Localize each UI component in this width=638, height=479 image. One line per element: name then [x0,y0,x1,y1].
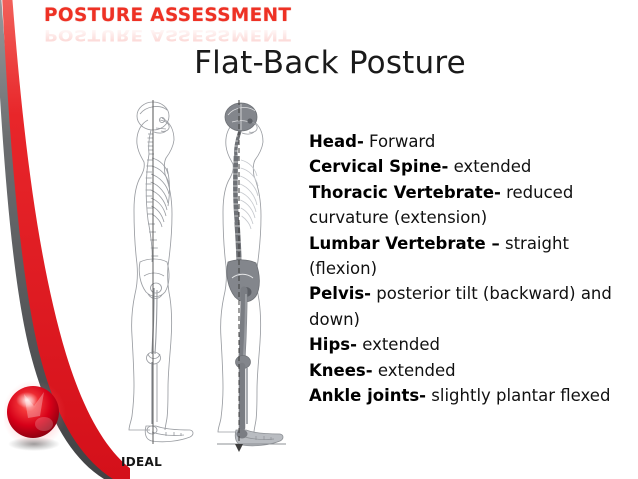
ideal-patella [148,354,160,359]
list-item: Lumbar Vertebrate – straight (flexion) [309,231,631,282]
ideal-foot [145,426,193,442]
orb-secondary-highlight [35,417,53,431]
list-item-value: Forward [369,132,435,151]
flatback-calcaneus [237,430,248,439]
list-item: Thoracic Vertebrate- reduced curvature (… [309,180,631,231]
posture-figures [104,96,304,452]
flatback-rib-cage [240,160,258,229]
ideal-cranium-suture [140,107,167,114]
red-glossy-sphere [4,372,68,458]
list-item-value: extended [362,335,440,354]
list-item-value: extended [378,361,456,380]
banner-title-reflection: POSTURE ASSESSMENT [44,26,296,44]
list-item-term: Ankle joints- [309,386,426,405]
flatback-foot [235,430,283,446]
banner-title: POSTURE ASSESSMENT POSTURE ASSESSMENT [44,4,304,42]
flatback-thoracic-spine [235,156,237,222]
list-item-term: Hips- [309,335,357,354]
ideal-maxilla [156,128,166,129]
slide-canvas: POSTURE ASSESSMENT POSTURE ASSESSMENT Fl… [0,0,638,479]
list-item: Cervical Spine- extended [309,154,631,179]
list-item-value: slightly plantar flexed [431,386,610,405]
ideal-figure-caption: IDEAL [121,455,162,469]
flatback-eye-socket [247,118,252,123]
ideal-femur-edge [155,290,157,354]
list-item: Head- Forward [309,129,631,154]
banner-title-text: POSTURE ASSESSMENT [44,4,296,26]
ideal-hip-socket [151,283,162,293]
list-item-term: Thoracic Vertebrate- [309,183,501,202]
ideal-knee-joint [147,352,161,364]
list-item-term: Knees- [309,361,373,380]
list-item-term: Lumbar Vertebrate – [309,234,500,253]
flatback-plumb-arrow [235,444,243,452]
list-item-term: Cervical Spine- [309,157,448,176]
flat-back-posture-skeleton [218,103,283,446]
list-item-term: Head- [309,132,364,151]
ideal-posture-skeleton [129,102,193,442]
list-item: Knees- extended [309,358,631,383]
orb-specular [16,392,38,408]
posture-description-list: Head- Forward Cervical Spine- extended T… [309,129,631,408]
list-item: Pelvis- posterior tilt (backward) and do… [309,281,631,332]
list-item-term: Pelvis- [309,284,371,303]
page-title: Flat-Back Posture [120,45,540,81]
orb-shadow [8,437,60,451]
ideal-thoracic-spine [146,154,149,220]
list-item: Hips- extended [309,332,631,357]
list-item-value: extended [454,157,532,176]
list-item: Ankle joints- slightly plantar flexed [309,383,631,408]
